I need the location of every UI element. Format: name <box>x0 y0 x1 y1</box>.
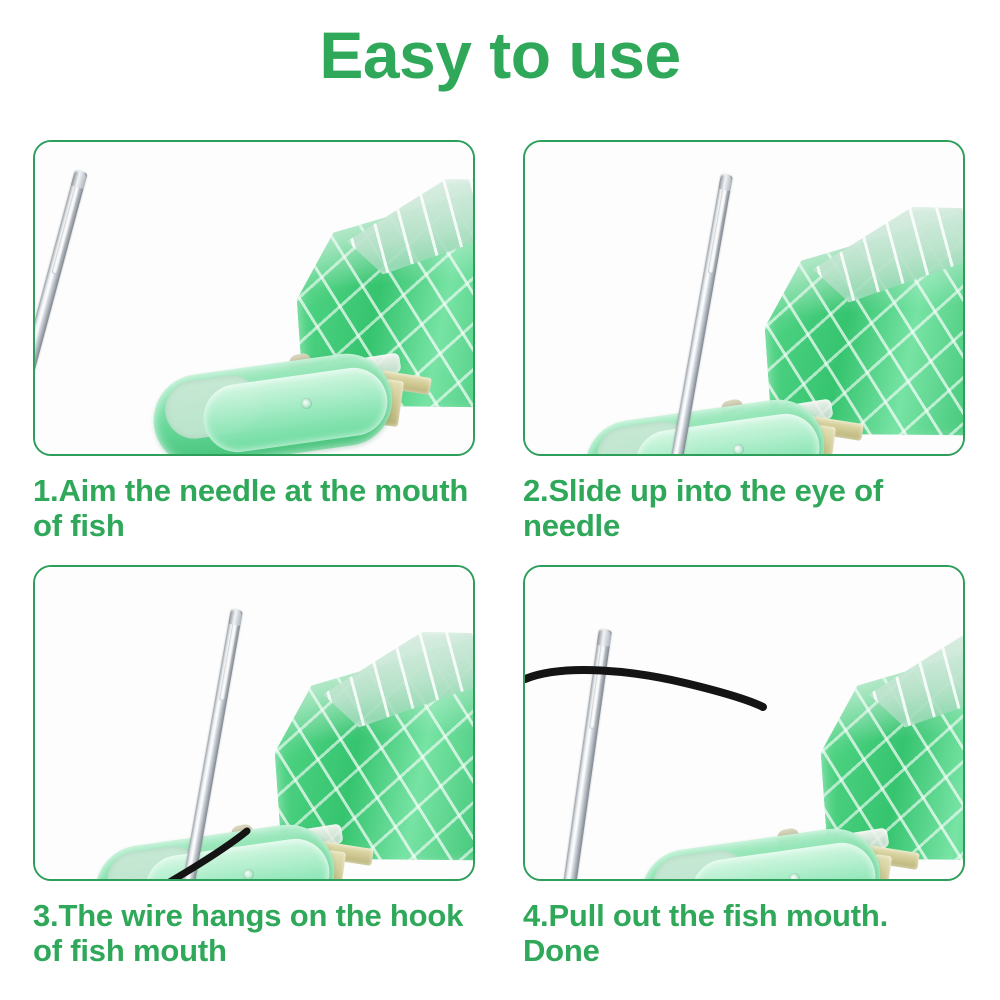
step-caption-2: 2.Slide up into the eye of needle <box>523 473 969 543</box>
step-photo-1-stage <box>35 142 473 454</box>
step-cell-1: 1.Aim the needle at the mouth of fish <box>33 140 479 565</box>
needle-threader-device <box>525 142 965 456</box>
step-caption-4: 4.Pull out the fish mouth. Done <box>523 898 969 968</box>
steps-grid: 1.Aim the needle at the mouth of fish <box>33 140 969 990</box>
step-photo-3 <box>33 565 475 881</box>
step-photo-4 <box>523 565 965 881</box>
step-photo-3-stage <box>35 567 473 879</box>
step-photo-4-stage <box>525 567 963 879</box>
needle-threader-device <box>35 142 475 456</box>
black-thread <box>525 567 965 881</box>
threader-paddle-dimple <box>733 444 744 455</box>
step-cell-3: 3.The wire hangs on the hook of fish mou… <box>33 565 479 990</box>
step-caption-1: 1.Aim the needle at the mouth of fish <box>33 473 479 543</box>
page-title: Easy to use <box>0 22 1000 88</box>
step-caption-3: 3.The wire hangs on the hook of fish mou… <box>33 898 479 968</box>
step-photo-2 <box>523 140 965 456</box>
black-thread <box>35 567 475 881</box>
step-photo-2-stage <box>525 142 963 454</box>
step-cell-2: 2.Slide up into the eye of needle <box>523 140 969 565</box>
step-photo-1 <box>33 140 475 456</box>
step-cell-4: 4.Pull out the fish mouth. Done <box>523 565 969 990</box>
threader-paddle-dimple <box>301 398 312 409</box>
